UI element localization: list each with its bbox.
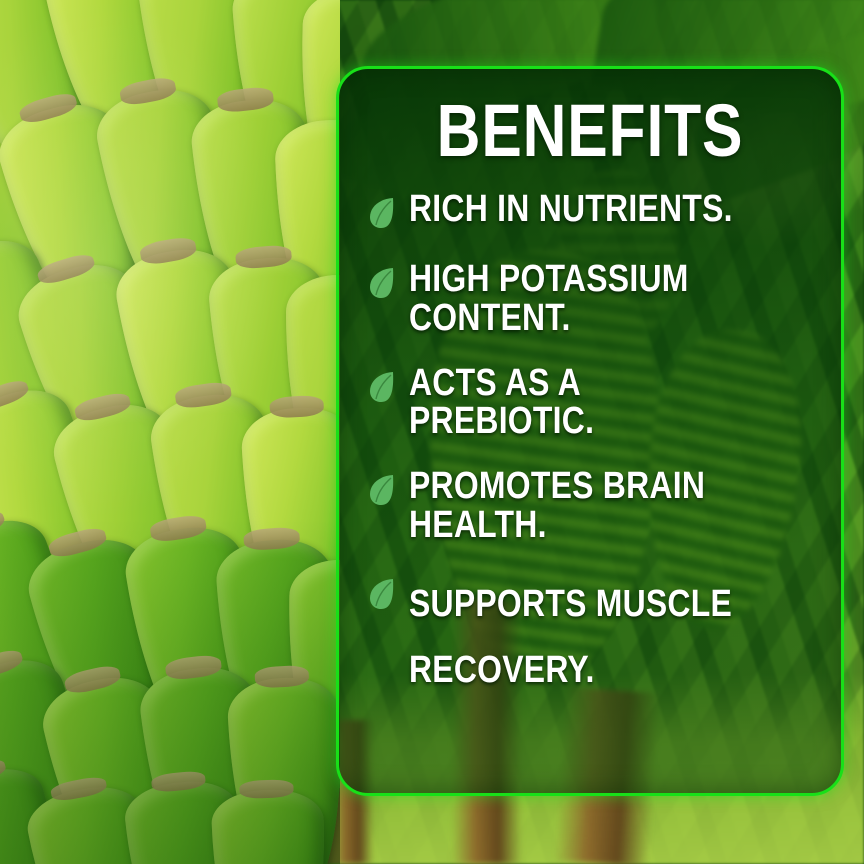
- leaf-icon: [369, 473, 395, 506]
- banana-fruit: [211, 788, 330, 864]
- benefit-item: HIGH POTASSIUM CONTENT.: [369, 260, 823, 338]
- benefit-item: ACTS AS A PREBIOTIC.: [369, 364, 823, 442]
- banana-cluster-photo: [0, 0, 340, 864]
- benefit-item: PROMOTES BRAIN HEALTH.: [369, 467, 823, 545]
- leaf-icon: [369, 370, 395, 403]
- leaf-icon: [369, 577, 395, 610]
- benefit-label: ACTS AS A PREBIOTIC.: [409, 364, 757, 442]
- benefit-label: HIGH POTASSIUM CONTENT.: [409, 260, 757, 338]
- benefits-list: RICH IN NUTRIENTS. HIGH POTASSIUM CONTEN…: [357, 190, 823, 704]
- benefit-label: RICH IN NUTRIENTS.: [409, 190, 757, 229]
- benefit-item: RICH IN NUTRIENTS.: [369, 190, 823, 234]
- benefits-poster: BENEFITS RICH IN NUTRIENTS. HIGH POTASSI…: [0, 0, 864, 864]
- card-title: BENEFITS: [399, 95, 781, 166]
- benefit-label: SUPPORTS MUSCLE RECOVERY.: [409, 571, 757, 704]
- benefit-item: SUPPORTS MUSCLE RECOVERY.: [369, 571, 823, 704]
- benefits-card: BENEFITS RICH IN NUTRIENTS. HIGH POTASSI…: [336, 66, 844, 796]
- benefit-label: PROMOTES BRAIN HEALTH.: [409, 467, 757, 545]
- leaf-icon: [369, 266, 395, 299]
- leaf-icon: [369, 196, 395, 229]
